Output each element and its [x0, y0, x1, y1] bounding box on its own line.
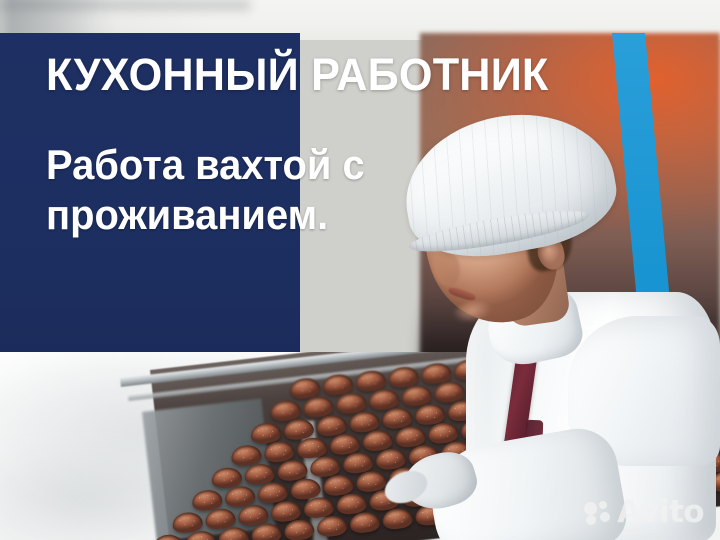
avito-job-ad-image: КУХОННЫЙ РАБОТНИК Работа вахтой с прожив…	[0, 0, 720, 540]
chocolate-piece	[250, 522, 282, 540]
chocolate-piece	[283, 518, 315, 540]
avito-wordmark: Avito	[617, 497, 704, 528]
ad-headline: КУХОННЫЙ РАБОТНИК	[46, 52, 549, 97]
worker-figure	[392, 120, 720, 540]
avito-watermark: Avito	[584, 497, 704, 528]
chocolate-piece	[218, 526, 250, 540]
ad-subheadline: Работа вахтой с проживанием.	[46, 140, 365, 239]
chocolate-piece	[316, 515, 348, 538]
ad-subheadline-line1: Работа вахтой с	[46, 141, 365, 188]
background-top-bar	[0, 0, 250, 10]
chocolate-piece	[349, 511, 381, 534]
ad-subheadline-line2: проживанием.	[46, 190, 365, 240]
avito-dots-logo-icon	[584, 501, 610, 525]
